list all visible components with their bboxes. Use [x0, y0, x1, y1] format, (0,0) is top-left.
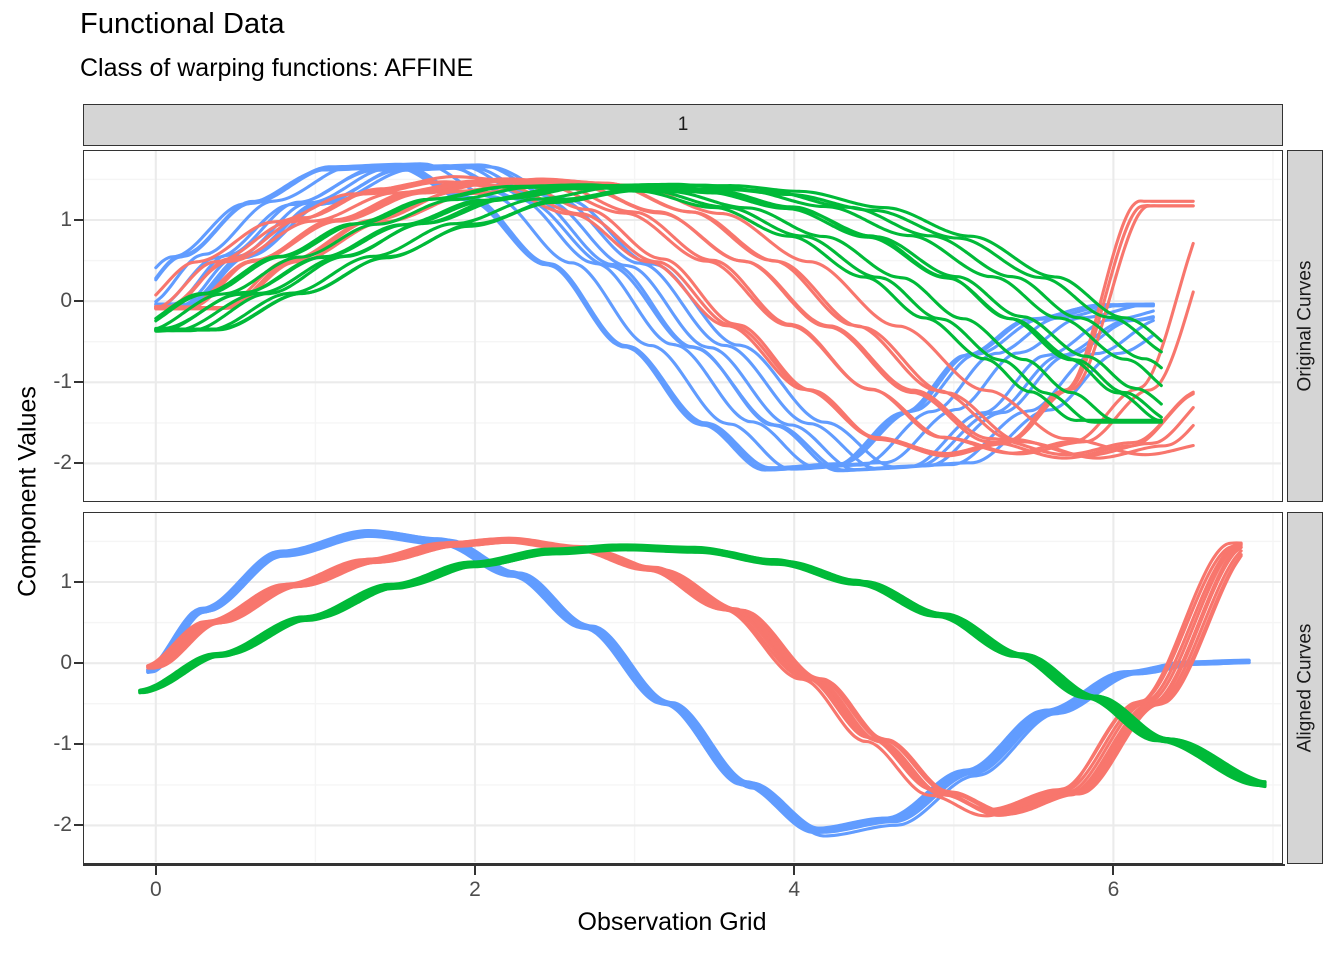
- x-axis-line: [83, 864, 1285, 866]
- y-tick-label: -2: [53, 451, 72, 475]
- page-title: Functional Data: [80, 8, 285, 41]
- chart-root: Functional Data Class of warping functio…: [0, 0, 1344, 960]
- facet-strip-aligned-label: Aligned Curves: [1294, 624, 1316, 753]
- curve-group-group-red: [148, 538, 1241, 816]
- x-axis-title: Observation Grid: [0, 908, 1344, 937]
- y-tick-mark: [74, 662, 83, 664]
- y-tick-label: -1: [53, 370, 72, 394]
- y-tick-mark: [74, 581, 83, 583]
- panel-original-curves: [83, 150, 1283, 502]
- x-tick-mark: [1112, 866, 1114, 875]
- x-tick-mark: [793, 866, 795, 875]
- curve-group-red: [148, 538, 1241, 815]
- y-tick-label: -1: [53, 732, 72, 756]
- page-subtitle: Class of warping functions: AFFINE: [80, 54, 473, 83]
- plot-area-aligned: [84, 513, 1281, 862]
- panel-aligned-curves: [83, 512, 1283, 864]
- y-tick-label: -2: [53, 813, 72, 837]
- y-tick-mark: [74, 743, 83, 745]
- facet-strip-aligned-curves: Aligned Curves: [1287, 512, 1323, 864]
- y-tick-mark: [74, 462, 83, 464]
- y-tick-mark: [74, 824, 83, 826]
- facet-strip-original-curves: Original Curves: [1287, 150, 1323, 502]
- y-tick-mark: [74, 381, 83, 383]
- y-tick-label: 0: [60, 651, 72, 675]
- y-tick-label: 0: [60, 289, 72, 313]
- x-tick-label: 6: [1108, 878, 1120, 902]
- facet-strip-original-label: Original Curves: [1294, 261, 1316, 392]
- facet-strip-top: 1: [83, 104, 1283, 146]
- plot-area-original: [84, 151, 1281, 500]
- x-tick-label: 4: [788, 878, 800, 902]
- x-tick-label: 0: [150, 878, 162, 902]
- x-tick-mark: [155, 866, 157, 875]
- y-tick-mark: [74, 300, 83, 302]
- y-axis-title: Component Values: [14, 322, 43, 662]
- x-tick-label: 2: [469, 878, 481, 902]
- y-tick-label: 1: [60, 570, 72, 594]
- y-tick-label: 1: [60, 208, 72, 232]
- x-tick-mark: [474, 866, 476, 875]
- y-tick-mark: [74, 219, 83, 221]
- facet-strip-top-label: 1: [678, 114, 689, 136]
